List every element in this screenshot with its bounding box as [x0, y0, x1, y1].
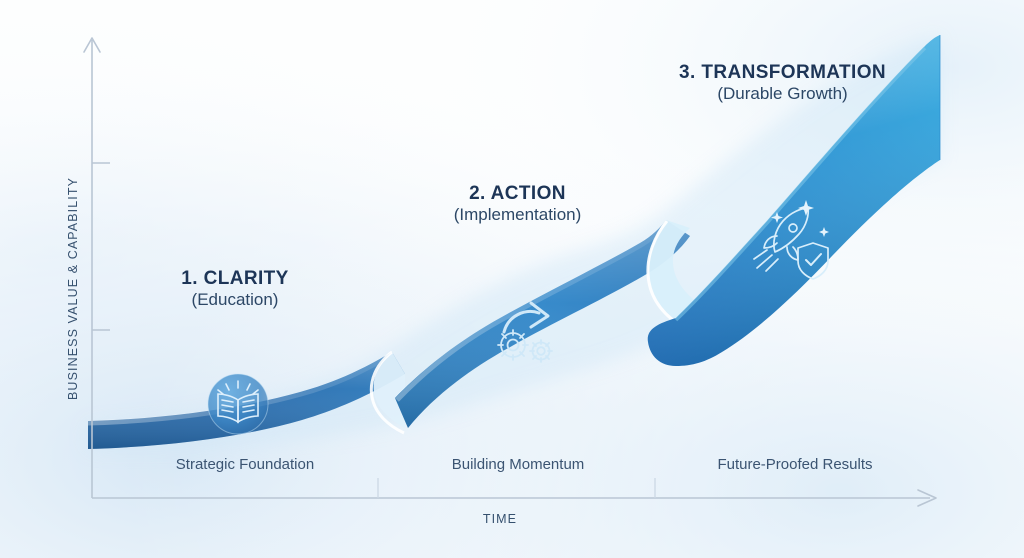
- y-axis-label: BUSINESS VALUE & CAPABILITY: [66, 100, 80, 400]
- segment-dividers: [378, 478, 655, 498]
- open-book-icon: [208, 374, 268, 434]
- stage-title: 1. CLARITY: [145, 268, 325, 290]
- x-axis-label: TIME: [0, 512, 1012, 526]
- stage-subtitle: (Education): [145, 290, 325, 310]
- stage-annotation-transformation: 3. TRANSFORMATION (Durable Growth): [655, 62, 910, 104]
- infographic-canvas: 1. CLARITY (Education) 2. ACTION (Implem…: [0, 0, 1024, 558]
- stage-title: 2. ACTION: [425, 183, 610, 205]
- stage-annotation-action: 2. ACTION (Implementation): [425, 183, 610, 225]
- phase-label-strategic-foundation: Strategic Foundation: [135, 456, 355, 473]
- stage-annotation-clarity: 1. CLARITY (Education): [145, 268, 325, 310]
- stage-subtitle: (Implementation): [425, 205, 610, 225]
- phase-label-building-momentum: Building Momentum: [408, 456, 628, 473]
- stage-subtitle: (Durable Growth): [655, 84, 910, 104]
- stage-title: 3. TRANSFORMATION: [655, 62, 910, 84]
- phase-label-future-proofed-results: Future-Proofed Results: [685, 456, 905, 473]
